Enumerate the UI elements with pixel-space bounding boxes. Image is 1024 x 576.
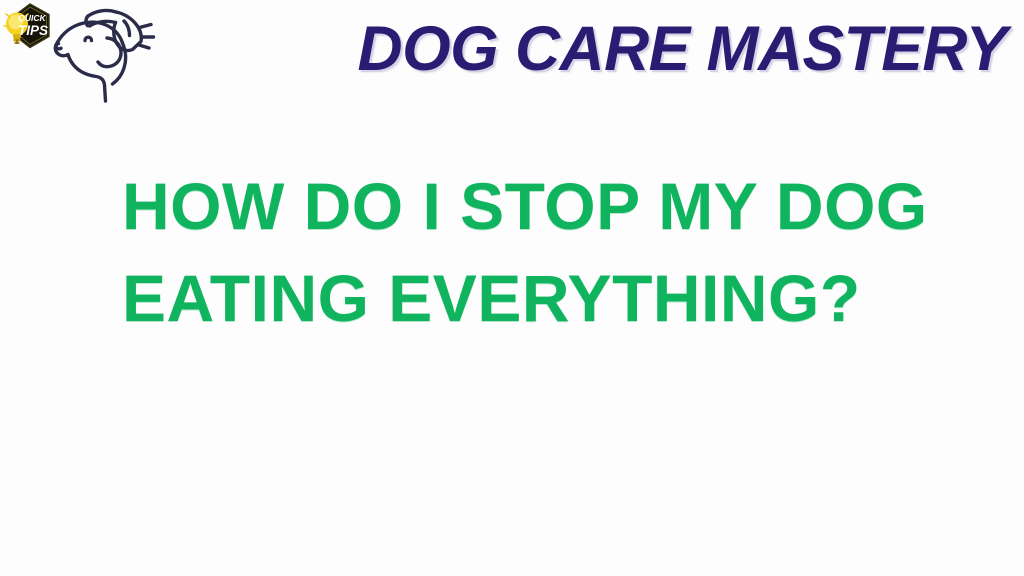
heading-line-2: EATING EVERYTHING? (122, 252, 912, 344)
badge-line2: TIPS (18, 23, 48, 38)
header-title: DOG CARE MASTERY (502, 8, 1007, 90)
badge-line1: QUICK (18, 13, 46, 23)
heading-line-1: HOW DO I STOP MY DOG (122, 160, 912, 252)
main-heading: HOW DO I STOP MY DOG EATING EVERYTHING? (122, 160, 912, 344)
brand-title-text: DOG CARE MASTERY (358, 17, 1007, 81)
dog-logo (52, 2, 167, 106)
brand-cluster: QUICK TIPS (0, 0, 200, 110)
dog-head-petting-hand-icon (52, 2, 167, 106)
slide-canvas: QUICK TIPS (0, 0, 1024, 576)
quick-tips-badge: QUICK TIPS (2, 2, 54, 50)
quick-tips-badge-svg: QUICK TIPS (2, 2, 54, 50)
